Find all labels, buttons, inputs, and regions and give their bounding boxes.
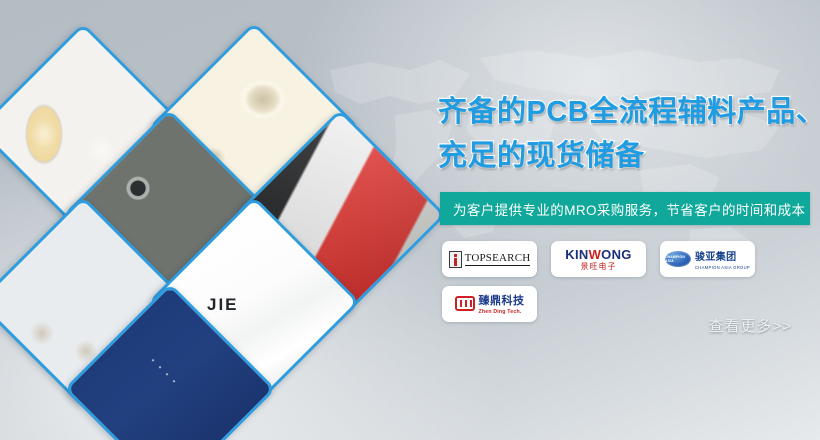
kinwong-word-b: ONG [601,247,632,262]
champion-asia-globe-text: CHAMPION ASIA [665,255,691,263]
partner-logo-kinwong[interactable]: KINWONG 景旺电子 [551,241,646,277]
banner-stage: 齐备的PCB全流程辅料产品、 充足的现货储备 为客户提供专业的MRO采购服务，节… [0,0,820,440]
banner-headline: 齐备的PCB全流程辅料产品、 充足的现货储备 [438,90,818,178]
kinwong-chinese-name: 景旺电子 [565,263,631,271]
partner-logo-topsearch[interactable]: TOPSEARCH [442,241,537,277]
zhen-ding-english-name: Zhen Ding Tech. [479,310,525,315]
banner-subtitle-bar: 为客户提供专业的MRO采购服务，节省客户的时间和成本 [440,192,810,225]
zhen-ding-chinese-name: 臻鼎科技 [479,295,525,307]
partner-logo-champion-asia[interactable]: CHAMPION ASIA 骏亚集团 CHAMPION ASIA GROUP [660,241,755,277]
banner-text-panel: 齐备的PCB全流程辅料产品、 充足的现货储备 为客户提供专业的MRO采购服务，节… [430,0,820,440]
topsearch-wordmark: TOPSEARCH [465,253,531,266]
headline-line-2: 充足的现货储备 [438,134,818,178]
partner-logo-row-1: TOPSEARCH KINWONG 景旺电子 CHAMPION ASIA 骏亚集… [442,241,812,277]
headline-line-1: 齐备的PCB全流程辅料产品、 [438,96,820,128]
kinwong-word-w: W [589,247,602,262]
view-more-link[interactable]: 查看更多>> [708,315,792,336]
champion-asia-chinese-name: 骏亚集团 [695,252,737,263]
partner-logo-zhen-ding[interactable]: 臻鼎科技 Zhen Ding Tech. [442,286,537,322]
kinwong-wordmark: KINWONG [565,248,631,261]
champion-asia-english-name: CHAMPION ASIA GROUP [695,266,750,270]
topsearch-mark-icon [449,251,462,268]
zhen-ding-mark-icon [455,296,475,311]
product-diamond-collage [0,22,412,440]
champion-asia-globe-icon: CHAMPION ASIA [665,251,691,267]
kinwong-word-a: KIN [565,247,588,262]
banner-subtitle-text: 为客户提供专业的MRO采购服务，节省客户的时间和成本 [453,199,805,219]
